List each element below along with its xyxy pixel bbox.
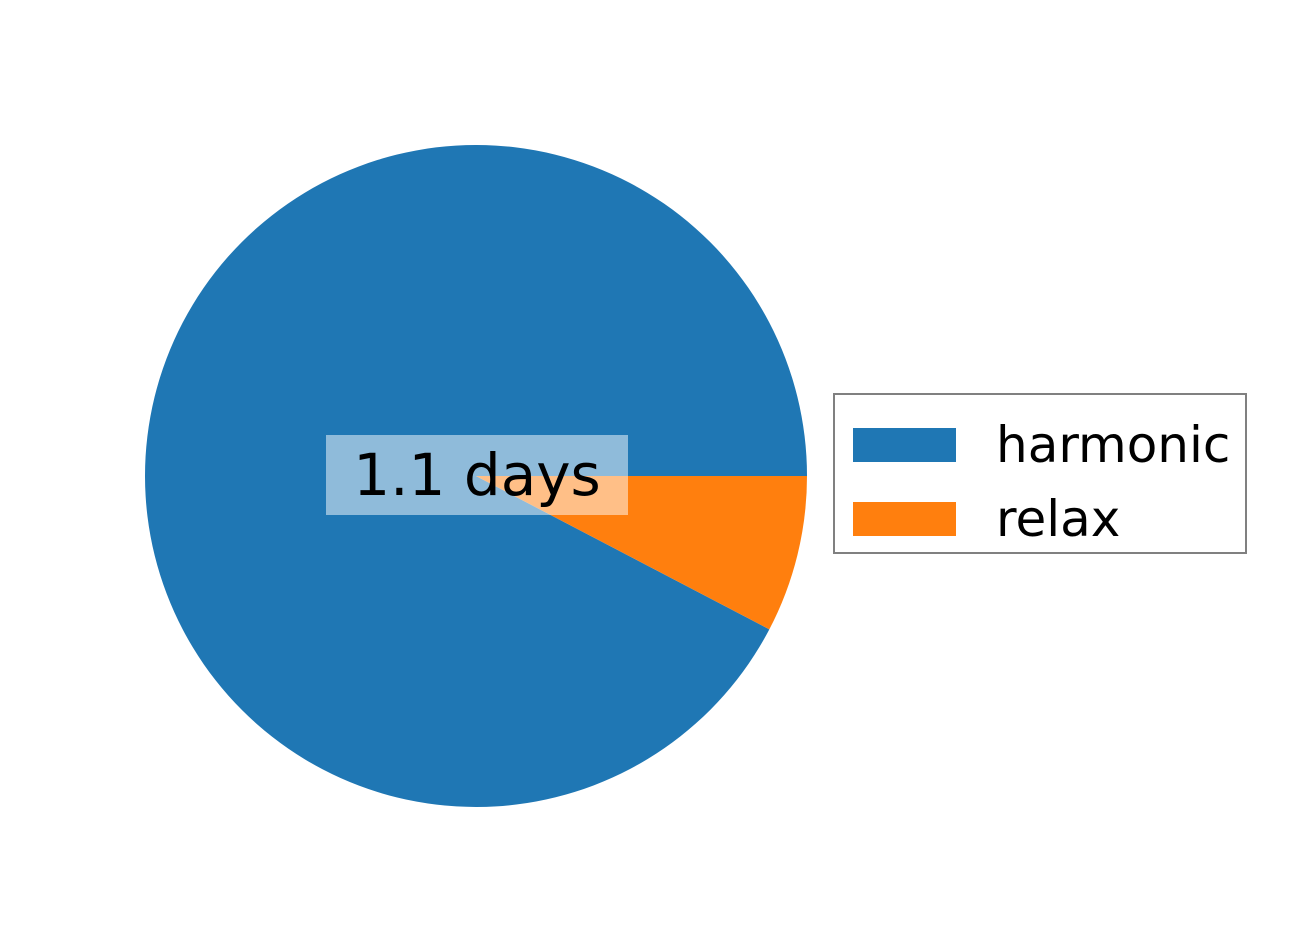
legend-label-harmonic: harmonic [996,420,1230,470]
chart-legend: harmonic relax [833,393,1247,554]
legend-entry-relax[interactable]: relax [853,494,1120,544]
legend-swatch-relax [853,502,956,536]
pie-chart-figure: 1.1 days harmonic relax [0,0,1307,951]
pie-slice-label-harmonic: 1.1 days [326,435,628,515]
legend-label-relax: relax [996,494,1120,544]
legend-swatch-harmonic [853,428,956,462]
legend-entry-harmonic[interactable]: harmonic [853,420,1230,470]
